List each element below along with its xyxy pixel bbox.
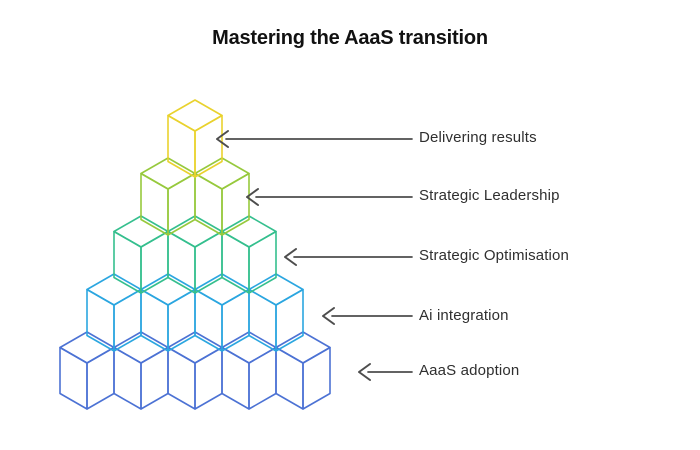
stage-label-aaas-adoption: AaaS adoption xyxy=(419,362,519,379)
cube xyxy=(114,216,168,293)
cube xyxy=(168,100,222,177)
stage-label-delivering-results: Delivering results xyxy=(419,129,537,146)
cube xyxy=(222,216,276,293)
cube xyxy=(195,274,249,351)
stage-label-ai-integration: Ai integration xyxy=(419,307,509,324)
cube xyxy=(168,332,222,409)
connector-strategic-leadership xyxy=(247,189,412,205)
cube xyxy=(141,158,195,235)
connector-delivering-results xyxy=(217,131,412,147)
cube xyxy=(114,332,168,409)
cube xyxy=(195,158,249,235)
connector-aaas-adoption xyxy=(359,364,412,380)
cube xyxy=(60,332,114,409)
cube xyxy=(87,274,141,351)
cube xyxy=(249,274,303,351)
cube-row-delivering-results xyxy=(168,100,222,177)
cube xyxy=(141,274,195,351)
cube xyxy=(222,332,276,409)
stage-label-strategic-optimisation: Strategic Optimisation xyxy=(419,247,569,264)
connector-arrows-layer xyxy=(217,131,412,380)
aaas-pyramid-diagram xyxy=(0,0,700,450)
connector-ai-integration xyxy=(323,308,412,324)
cube-row-strategic-optimisation xyxy=(114,216,276,293)
stage-label-strategic-leadership: Strategic Leadership xyxy=(419,187,560,204)
cube xyxy=(276,332,330,409)
connector-strategic-optimisation xyxy=(285,249,412,265)
cube xyxy=(168,216,222,293)
